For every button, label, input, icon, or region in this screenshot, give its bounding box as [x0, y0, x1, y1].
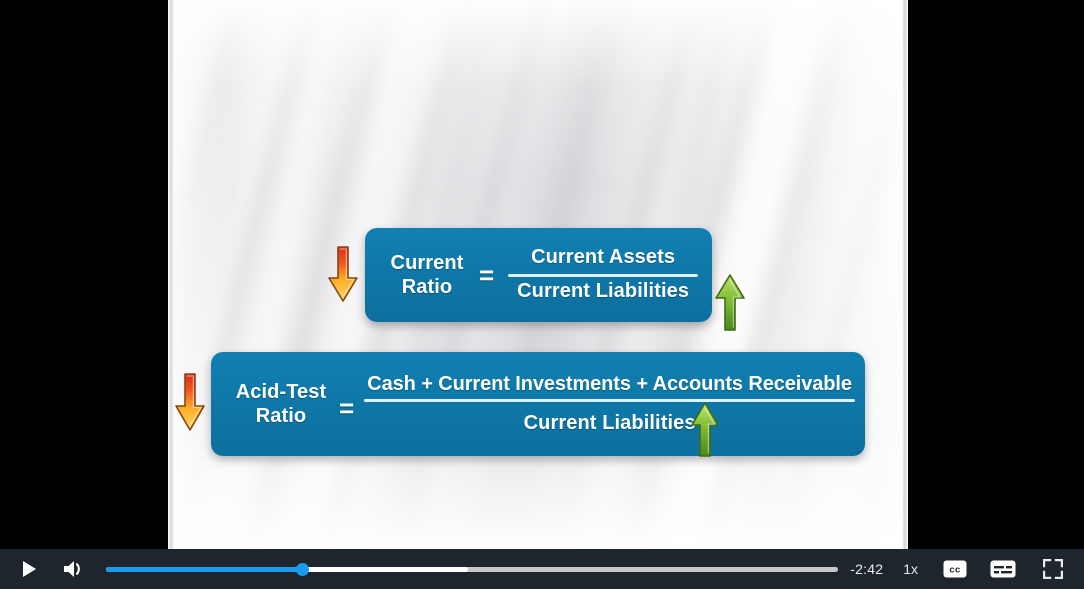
current-ratio-fraction-bar	[508, 274, 698, 277]
current-ratio-box: Current Ratio = Current Assets Current L…	[365, 228, 712, 322]
current-ratio-label-line1: Current	[381, 251, 473, 275]
down-arrow-red-icon	[173, 371, 207, 435]
up-arrow-green-icon	[713, 272, 747, 334]
subtitles-settings-button[interactable]	[988, 554, 1018, 584]
current-ratio-label-line2: Ratio	[381, 275, 473, 299]
playback-speed-button[interactable]: 1x	[903, 561, 918, 577]
down-arrow-red-icon	[326, 244, 360, 306]
acid-test-ratio-label-line1: Acid-Test	[225, 380, 337, 404]
cc-icon: cc	[943, 560, 967, 578]
subtitles-icon	[990, 560, 1016, 578]
current-ratio-fraction: Current Assets Current Liabilities	[506, 245, 700, 306]
progress-bar[interactable]	[106, 560, 838, 578]
current-ratio-equals-sign: =	[479, 260, 494, 291]
closed-captions-button[interactable]: cc	[940, 554, 970, 584]
volume-icon	[61, 558, 85, 580]
progress-played	[106, 567, 302, 572]
play-icon	[21, 560, 37, 578]
acid-test-ratio-denominator: Current Liabilities	[364, 402, 855, 435]
current-ratio-denominator: Current Liabilities	[506, 279, 700, 306]
acid-test-ratio-label: Acid-Test Ratio	[225, 380, 337, 428]
fullscreen-icon	[1043, 559, 1063, 579]
svg-text:cc: cc	[949, 565, 960, 576]
slide-content: Current Ratio = Current Assets Current L…	[168, 0, 908, 549]
acid-test-ratio-numerator: Cash + Current Investments + Accounts Re…	[364, 373, 855, 399]
video-player: Current Ratio = Current Assets Current L…	[0, 0, 1084, 589]
video-stage[interactable]: Current Ratio = Current Assets Current L…	[0, 0, 1084, 549]
fullscreen-button[interactable]	[1038, 554, 1068, 584]
player-controls: -2:42 1x cc	[0, 549, 1084, 589]
acid-test-ratio-box: Acid-Test Ratio = Cash + Current Investm…	[211, 352, 865, 456]
volume-button[interactable]	[58, 554, 88, 584]
acid-test-ratio-fraction: Cash + Current Investments + Accounts Re…	[364, 373, 855, 435]
current-ratio-numerator: Current Assets	[506, 245, 700, 272]
time-remaining: -2:42	[850, 561, 883, 577]
play-button[interactable]	[14, 554, 44, 584]
progress-handle[interactable]	[296, 563, 309, 576]
current-ratio-label: Current Ratio	[381, 251, 473, 300]
slide-canvas: Current Ratio = Current Assets Current L…	[168, 0, 908, 549]
acid-test-ratio-equals-sign: =	[339, 393, 354, 424]
acid-test-ratio-label-line2: Ratio	[225, 404, 337, 428]
